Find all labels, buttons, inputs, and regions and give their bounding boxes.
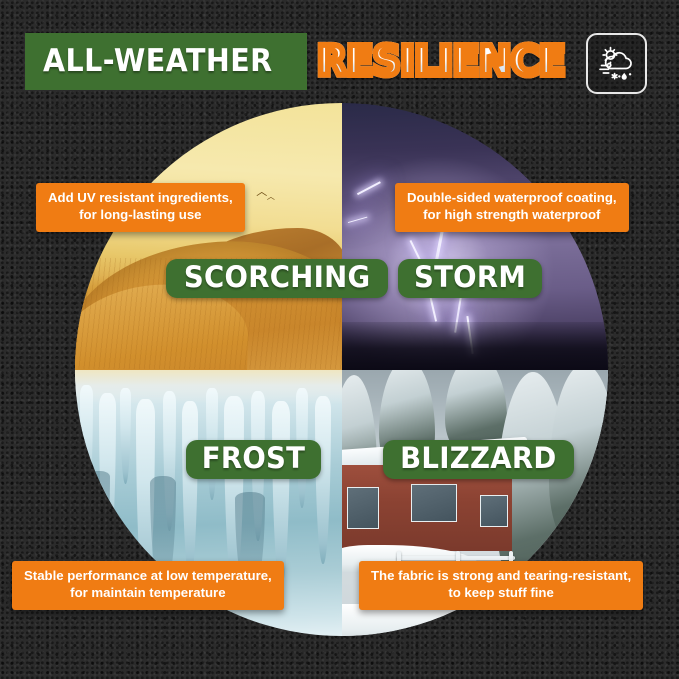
callout-storm-line2: for high strength waterproof <box>407 207 617 224</box>
header-title-bar: ALL-WEATHER RESILIENCE <box>25 33 594 90</box>
header-green-block: ALL-WEATHER <box>25 33 307 90</box>
label-text-frost: FROST <box>202 444 306 474</box>
label-chip-blizzard: BLIZZARD <box>383 440 574 479</box>
label-text-blizzard: BLIZZARD <box>400 444 556 474</box>
storm-treeline <box>342 322 609 370</box>
bird-icon: ︿ <box>267 191 275 202</box>
callout-scorching-line1: Add UV resistant ingredients, <box>48 190 233 207</box>
callout-frost-line1: Stable performance at low temperature, <box>24 568 272 585</box>
icicle <box>120 388 131 484</box>
weather-sun-cloud-wind-snow-rain-icon <box>586 33 647 94</box>
header-orange-block: RESILIENCE <box>301 33 594 90</box>
cabin-window <box>480 495 508 527</box>
quadrant-scorching: ︿ ︿ <box>75 103 342 370</box>
lightning-bolt-icon <box>348 216 368 223</box>
icicle <box>315 396 331 564</box>
quadrant-storm <box>342 103 609 370</box>
callout-blizzard-line1: The fabric is strong and tearing-resista… <box>371 568 631 585</box>
label-chip-frost: FROST <box>186 440 321 479</box>
icicle <box>272 401 290 587</box>
label-text-storm: STORM <box>414 263 526 293</box>
callout-blizzard-line2: to keep stuff fine <box>371 585 631 602</box>
cabin-window <box>347 487 379 529</box>
callout-frost-line2: for maintain temperature <box>24 585 272 602</box>
label-chip-scorching: SCORCHING <box>166 259 388 298</box>
header-title-primary: ALL-WEATHER <box>43 46 273 77</box>
cabin-window <box>411 484 457 522</box>
label-text-scorching: SCORCHING <box>184 263 370 293</box>
header-title-secondary: RESILIENCE <box>317 41 565 82</box>
callout-scorching: Add UV resistant ingredients, for long-l… <box>36 183 245 232</box>
bird-icon: ︿ <box>256 183 267 199</box>
callout-blizzard: The fabric is strong and tearing-resista… <box>359 561 643 610</box>
callout-frost: Stable performance at low temperature, f… <box>12 561 284 610</box>
promo-banner: ALL-WEATHER RESILIENCE <box>0 0 679 679</box>
callout-scorching-line2: for long-lasting use <box>48 207 233 224</box>
icicle <box>182 401 198 579</box>
callout-storm: Double-sided waterproof coating, for hig… <box>395 183 629 232</box>
label-chip-storm: STORM <box>398 259 542 298</box>
callout-storm-line1: Double-sided waterproof coating, <box>407 190 617 207</box>
lightning-bolt-icon <box>357 181 381 195</box>
